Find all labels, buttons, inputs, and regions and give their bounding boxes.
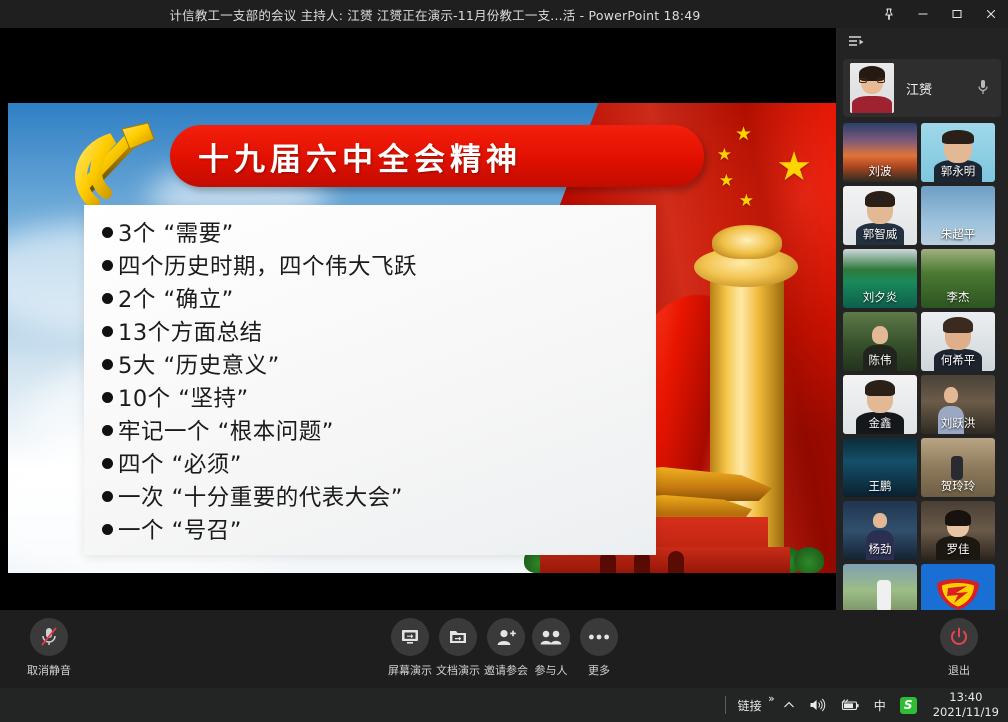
meeting-app-window: 计信教工一支部的会议 主持人: 江赟 江赟正在演示-11月份教工一支...活 -…	[0, 0, 1008, 722]
participant-name: 陈伟	[843, 352, 917, 368]
participant-tile[interactable]: 李杰	[921, 249, 995, 308]
participant-tile[interactable]: 陈伟	[843, 312, 917, 371]
battery-icon	[840, 699, 860, 712]
slide-bullet: 2个 “确立”	[102, 284, 638, 317]
star-icon: ★	[739, 193, 754, 210]
host-name: 江赟	[906, 79, 932, 98]
participant-tile[interactable]: 金鑫	[843, 375, 917, 434]
leave-meeting-button[interactable]: 退出	[940, 618, 978, 678]
bullet-dot-icon	[102, 458, 113, 469]
windows-taskbar: 链接 »	[0, 688, 1008, 722]
person-shape	[865, 191, 895, 207]
slide-bullet: 3个 “需要”	[102, 218, 638, 251]
slide-bullet-text: 3个 “需要”	[118, 218, 234, 251]
document-share-icon	[448, 628, 468, 646]
invite-person-icon	[496, 628, 517, 647]
document-share-button[interactable]: 文档演示	[436, 618, 480, 678]
minimize-button[interactable]	[906, 0, 940, 28]
sidebar-header	[836, 28, 1008, 56]
slide-bullet: 10个 “坚持”	[102, 383, 638, 416]
window-title: 计信教工一支部的会议 主持人: 江赟 江赟正在演示-11月份教工一支...活 -…	[0, 5, 870, 24]
close-icon	[985, 8, 997, 20]
participant-grid: 刘波 郭永明 郭智威 朱超平 刘夕炎 李杰	[836, 123, 1008, 623]
slide-bullet: 一次 “十分重要的代表大会”	[102, 482, 638, 515]
person-shape	[943, 317, 973, 333]
huabiao-top-graphic	[712, 225, 782, 259]
participant-name: 郭智威	[843, 226, 917, 242]
sogou-ime-button[interactable]: S	[893, 688, 924, 722]
participant-name: 金鑫	[843, 415, 917, 431]
participants-circle	[532, 618, 570, 656]
star-icon: ★	[776, 147, 812, 187]
host-tile[interactable]: 江赟	[843, 59, 1001, 117]
avatar	[850, 63, 894, 113]
microphone-icon[interactable]	[977, 79, 989, 100]
leave-label: 退出	[948, 662, 970, 678]
person-shape	[951, 456, 963, 480]
slide-bullet-text: 2个 “确立”	[118, 284, 234, 317]
show-hidden-icons-button[interactable]	[776, 688, 802, 722]
ime-mode-label: 中	[874, 697, 886, 714]
participants-sidebar: 江赟 刘波 郭永明	[836, 28, 1008, 610]
document-share-circle	[439, 618, 477, 656]
screen-share-label: 屏幕演示	[388, 662, 432, 678]
participant-name: 刘夕炎	[843, 289, 917, 305]
power-icon	[949, 627, 969, 647]
participant-name: 刘跃洪	[921, 415, 995, 431]
screen-share-circle	[391, 618, 429, 656]
volume-button[interactable]	[802, 688, 833, 722]
participant-tile[interactable]: 朱超平	[921, 186, 995, 245]
participant-tile[interactable]: 罗佳	[921, 501, 995, 560]
slide-bullet-text: 一个 “号召”	[118, 515, 242, 548]
slide-bullet: 四个 “必须”	[102, 449, 638, 482]
participant-tile[interactable]: 王鹏	[843, 438, 917, 497]
bullet-dot-icon	[102, 293, 113, 304]
participant-name: 朱超平	[921, 226, 995, 242]
star-icon: ★	[735, 125, 752, 144]
more-circle	[580, 618, 618, 656]
invite-label: 邀请参会	[484, 662, 528, 678]
person-shape	[942, 130, 974, 144]
close-button[interactable]	[974, 0, 1008, 28]
gate-door	[668, 551, 684, 573]
tree-shape	[794, 547, 824, 573]
participant-tile[interactable]: 刘波	[843, 123, 917, 182]
system-tray: 链接 »	[720, 688, 1008, 722]
screen-share-button[interactable]: 屏幕演示	[388, 618, 432, 678]
slide-bullet: 5大 “历史意义”	[102, 350, 638, 383]
participant-tile[interactable]: 何希平	[921, 312, 995, 371]
minimize-icon	[917, 8, 929, 20]
taskbar-links-label: 链接	[738, 697, 762, 714]
slide-bullet-text: 10个 “坚持”	[118, 383, 249, 416]
bullet-dot-icon	[102, 359, 113, 370]
invite-button[interactable]: 邀请参会	[484, 618, 528, 678]
participant-name: 何希平	[921, 352, 995, 368]
slide-bullet-text: 一次 “十分重要的代表大会”	[118, 482, 403, 515]
mute-button-circle	[30, 618, 68, 656]
slide-bullet-text: 四个 “必须”	[118, 449, 242, 482]
taskbar-links-toolbar[interactable]: 链接 »	[731, 688, 776, 722]
flag-stars: ★ ★ ★ ★ ★	[688, 125, 818, 225]
person-shape	[865, 380, 895, 396]
slide-bullet: 牢记一个 “根本问题”	[102, 416, 638, 449]
bullet-dot-icon	[102, 425, 113, 436]
leave-circle	[940, 618, 978, 656]
invite-circle	[487, 618, 525, 656]
mute-button[interactable]: 取消静音	[27, 618, 71, 678]
participant-name: 郭永明	[921, 163, 995, 179]
participant-tile[interactable]: 贺玲玲	[921, 438, 995, 497]
participant-name: 罗佳	[921, 541, 995, 557]
window-controls	[872, 0, 1008, 28]
slide-title-banner: 十九届六中全会精神	[170, 125, 704, 187]
taskbar-time: 13:40	[949, 690, 982, 705]
taskbar-date: 2021/11/19	[933, 705, 999, 720]
participant-name: 李杰	[921, 289, 995, 305]
bullet-dot-icon	[102, 326, 113, 337]
slide-bullet-panel: 3个 “需要” 四个历史时期，四个伟大飞跃 2个 “确立” 13个方面总结 5大…	[84, 205, 656, 555]
slide-bullet: 一个 “号召”	[102, 515, 638, 548]
slide-bullet-text: 5大 “历史意义”	[118, 350, 280, 383]
star-icon: ★	[719, 173, 734, 190]
participant-name: 刘波	[843, 163, 917, 179]
party-emblem-icon	[64, 119, 168, 215]
taskbar-divider	[725, 696, 726, 714]
slide-bullet-text: 13个方面总结	[118, 317, 263, 350]
participants-label: 参与人	[535, 662, 568, 678]
participant-tile[interactable]: 刘跃洪	[921, 375, 995, 434]
participant-tile[interactable]: 杨劲	[843, 501, 917, 560]
mute-button-label: 取消静音	[27, 662, 71, 678]
participants-button[interactable]: 参与人	[532, 618, 570, 678]
participant-tile[interactable]: 郭永明	[921, 123, 995, 182]
participant-tile[interactable]: 郭智威	[843, 186, 917, 245]
maximize-icon	[951, 8, 963, 20]
maximize-button[interactable]	[940, 0, 974, 28]
title-bar: 计信教工一支部的会议 主持人: 江赟 江赟正在演示-11月份教工一支...活 -…	[0, 0, 1008, 28]
person-shape	[873, 513, 887, 528]
participants-icon	[540, 629, 562, 646]
bullet-dot-icon	[102, 491, 113, 502]
layout-list-icon[interactable]	[848, 33, 865, 52]
meeting-control-bar: 取消静音 屏幕演示 文档演示	[0, 610, 1008, 688]
taskbar-overflow-label[interactable]: »	[768, 692, 775, 705]
chevron-up-icon	[783, 700, 795, 710]
slide-bullet-text: 四个历史时期，四个伟大飞跃	[118, 251, 417, 284]
slide-title: 十九届六中全会精神	[198, 134, 522, 179]
document-share-label: 文档演示	[436, 662, 480, 678]
participant-name: 杨劲	[843, 541, 917, 557]
participant-name: 贺玲玲	[921, 478, 995, 494]
star-icon: ★	[717, 147, 732, 164]
person-shape	[944, 387, 958, 403]
screen-share-icon	[400, 628, 420, 647]
participant-tile[interactable]: 刘夕炎	[843, 249, 917, 308]
battery-button[interactable]	[833, 688, 867, 722]
person-shape	[877, 580, 891, 612]
speaker-icon	[809, 698, 826, 712]
pin-icon	[883, 8, 895, 20]
person-shape	[945, 510, 971, 526]
shared-screen-stage[interactable]: ★ ★ ★ ★ ★	[0, 28, 836, 610]
more-button[interactable]: 更多	[580, 618, 618, 678]
presentation-slide: ★ ★ ★ ★ ★	[8, 103, 836, 573]
bullet-dot-icon	[102, 227, 113, 238]
person-shape	[872, 326, 888, 344]
more-dots-icon	[588, 634, 610, 640]
slide-bullet-text: 牢记一个 “根本问题”	[118, 416, 334, 449]
ime-mode-button[interactable]: 中	[867, 688, 893, 722]
bullet-dot-icon	[102, 260, 113, 271]
superman-logo-icon	[934, 577, 982, 611]
slide-bullet: 13个方面总结	[102, 317, 638, 350]
microphone-muted-icon	[39, 626, 59, 648]
participant-name: 王鹏	[843, 478, 917, 494]
taskbar-clock[interactable]: 13:40 2021/11/19	[924, 688, 1008, 722]
pin-button[interactable]	[872, 0, 906, 28]
bullet-dot-icon	[102, 392, 113, 403]
more-label: 更多	[588, 662, 610, 678]
bullet-dot-icon	[102, 524, 113, 535]
sogou-icon: S	[900, 697, 917, 714]
slide-bullet: 四个历史时期，四个伟大飞跃	[102, 251, 638, 284]
